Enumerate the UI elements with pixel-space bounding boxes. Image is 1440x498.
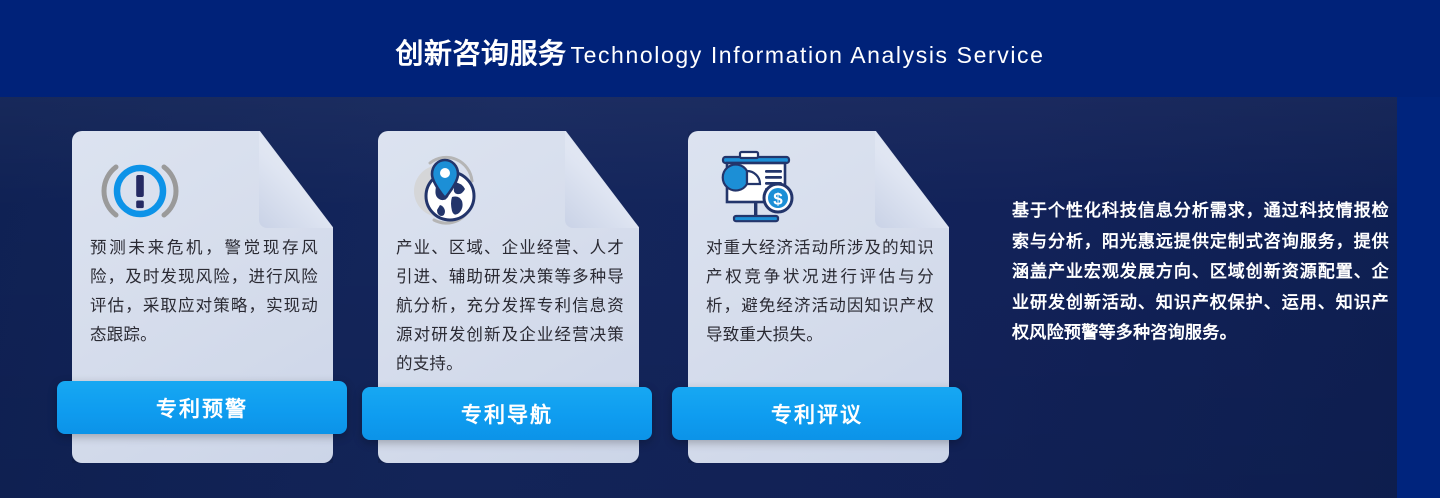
page-title: 创新咨询服务Technology Information Analysis Se… [0,32,1440,72]
alert-exclamation-icon [94,147,186,235]
page-title-en: Technology Information Analysis Service [570,42,1044,68]
card-body-text: 对重大经济活动所涉及的知识产权竞争状况进行评估与分析，避免经济活动因知识产权导致… [706,234,934,350]
card-body-text: 预测未来危机，警觉现存风险，及时发现风险，进行风险评估，采取应对策略，实现动态跟… [90,234,318,350]
header-band: 创新咨询服务Technology Information Analysis Se… [0,0,1440,97]
globe-map-pin-icon [400,147,492,235]
svg-text:$: $ [773,190,783,209]
card-label-patent-review[interactable]: 专利评议 [672,387,962,440]
card-label-patent-warning[interactable]: 专利预警 [57,381,347,434]
card-body-text: 产业、区域、企业经营、人才引进、辅助研发决策等多种导航分析，充分发挥专利信息资源… [396,234,624,379]
card-label-patent-navigation[interactable]: 专利导航 [362,387,652,440]
presentation-chart-dollar-icon: $ [710,147,802,235]
right-description-text: 基于个性化科技信息分析需求，通过科技情报检索与分析，阳光惠远提供定制式咨询服务，… [1012,196,1389,349]
page-title-cn: 创新咨询服务 [395,38,566,69]
